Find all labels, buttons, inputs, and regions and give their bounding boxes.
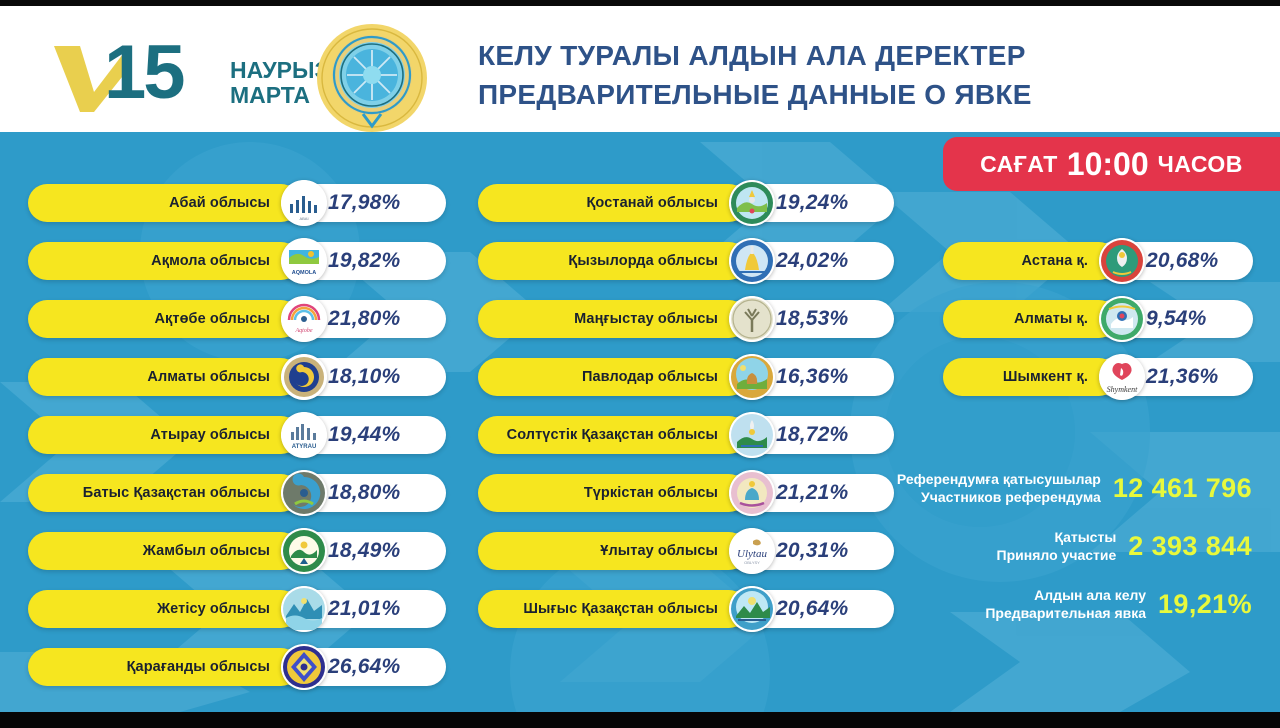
north-kazakhstan-region-emblem-icon — [729, 412, 775, 458]
atyrau-region-emblem-icon: ATYRAU — [281, 412, 327, 458]
table-row: Астана қ. 20,68% — [943, 242, 1253, 280]
page-title: КЕЛУ ТУРАЛЫ АЛДЫН АЛА ДЕРЕКТЕР ПРЕДВАРИТ… — [478, 36, 1238, 114]
summary-label-kz: Алдын ала келу — [985, 586, 1146, 604]
name-pill: Жамбыл облысы — [28, 532, 300, 570]
region-name: Павлодар облысы — [582, 369, 718, 385]
summary-label: Қатысты Приняло участие — [997, 528, 1117, 564]
table-row: Жетісу облысы 21,01% — [28, 590, 446, 628]
name-pill: Алматы облысы — [28, 358, 300, 396]
region-name: Абай облысы — [169, 195, 270, 211]
region-value: 9,54% — [1146, 300, 1207, 338]
table-row: Қызылорда облысы 24,02% — [478, 242, 894, 280]
table-row: Шымкент қ. Shymkent 21,36% — [943, 358, 1253, 396]
region-name: Маңғыстау облысы — [574, 311, 718, 327]
cec-kazakhstan-emblem-icon — [313, 22, 431, 134]
abai-region-emblem-icon: ABAI — [281, 180, 327, 226]
region-value: 18,80% — [328, 474, 400, 512]
zhambyl-region-emblem-icon — [281, 528, 327, 574]
name-pill: Алматы қ. — [943, 300, 1118, 338]
region-value: 20,31% — [776, 532, 848, 570]
table-row: Түркістан облысы 21,21% — [478, 474, 894, 512]
region-name: Солтүстік Қазақстан облысы — [507, 427, 718, 443]
karaganda-region-emblem-icon — [281, 644, 327, 690]
summary-block: Референдумға қатысушылар Участников рефе… — [880, 470, 1252, 644]
infographic-screen: 15 НАУРЫЗ МАРТА КЕЛУ ТУРАЛЫ А — [0, 0, 1280, 728]
region-value: 18,10% — [328, 358, 400, 396]
mangystau-region-emblem-icon — [729, 296, 775, 342]
region-value: 26,64% — [328, 648, 400, 686]
svg-text:Ulytau: Ulytau — [737, 548, 767, 560]
table-row: Шығыс Қазақстан облысы 20,64% — [478, 590, 894, 628]
svg-text:Aqtobe: Aqtobe — [295, 328, 313, 334]
aqmola-region-emblem-icon: AQMOLA — [281, 238, 327, 284]
summary-label-ru: Приняло участие — [997, 546, 1117, 564]
region-name: Қостанай облысы — [586, 195, 718, 211]
summary-label: Референдумға қатысушылар Участников рефе… — [897, 470, 1101, 506]
name-pill: Ұлытау облысы — [478, 532, 748, 570]
summary-value: 19,21% — [1158, 589, 1252, 620]
region-name: Алматы қ. — [1014, 311, 1088, 327]
almaty-city-emblem-icon — [1099, 296, 1145, 342]
name-pill: Қарағанды облысы — [28, 648, 300, 686]
region-name: Ұлытау облысы — [600, 543, 718, 559]
region-value: 21,01% — [328, 590, 400, 628]
region-value: 21,80% — [328, 300, 400, 338]
table-row: Солтүстік Қазақстан облысы 18,72% — [478, 416, 894, 454]
table-row: Атырау облысы ATYRAU 19,44% — [28, 416, 446, 454]
region-value: 16,36% — [776, 358, 848, 396]
region-name: Атырау облысы — [150, 427, 270, 443]
shymkent-city-emblem-icon: Shymkent — [1099, 354, 1145, 400]
summary-label-kz: Референдумға қатысушылар — [897, 470, 1101, 488]
summary-value: 2 393 844 — [1128, 531, 1252, 562]
summary-label-ru: Предварительная явка — [985, 604, 1146, 622]
summary-value: 12 461 796 — [1113, 473, 1252, 504]
table-row: Маңғыстау облысы 18,53% — [478, 300, 894, 338]
region-value: 21,36% — [1146, 358, 1218, 396]
summary-row-turnout: Алдын ала келу Предварительная явка 19,2… — [880, 586, 1252, 622]
pavlodar-region-emblem-icon — [729, 354, 775, 400]
region-value: 20,68% — [1146, 242, 1218, 280]
time-label-kz: САҒАТ — [980, 151, 1058, 178]
region-name: Астана қ. — [1021, 253, 1088, 269]
region-name: Шымкент қ. — [1003, 369, 1088, 385]
name-pill: Шымкент қ. — [943, 358, 1118, 396]
region-name: Батыс Қазақстан облысы — [83, 485, 270, 501]
name-pill: Астана қ. — [943, 242, 1118, 280]
kostanay-region-emblem-icon — [729, 180, 775, 226]
region-name: Жамбыл облысы — [143, 543, 270, 559]
election-date-logo: 15 НАУРЫЗ МАРТА — [48, 32, 288, 114]
svg-text:ATYRAU: ATYRAU — [292, 444, 317, 450]
table-row: Қостанай облысы 19,24% — [478, 184, 894, 222]
name-pill: Батыс Қазақстан облысы — [28, 474, 300, 512]
table-row: Абай облысы ABAI 17,98% — [28, 184, 446, 222]
time-label-ru: ЧАСОВ — [1158, 151, 1243, 178]
title-russian: ПРЕДВАРИТЕЛЬНЫЕ ДАННЫЕ О ЯВКЕ — [478, 75, 1238, 114]
header-band: 15 НАУРЫЗ МАРТА КЕЛУ ТУРАЛЫ А — [0, 6, 1280, 132]
region-value: 19,24% — [776, 184, 848, 222]
aqtobe-region-emblem-icon: Aqtobe — [281, 296, 327, 342]
table-row: Павлодар облысы 16,36% — [478, 358, 894, 396]
name-pill: Түркістан облысы — [478, 474, 748, 512]
astana-city-emblem-icon — [1099, 238, 1145, 284]
region-name: Түркістан облысы — [584, 485, 718, 501]
summary-label: Алдын ала келу Предварительная явка — [985, 586, 1146, 622]
east-kazakhstan-region-emblem-icon — [729, 586, 775, 632]
svg-text:Shymkent: Shymkent — [1107, 385, 1138, 394]
name-pill: Ақтөбе облысы — [28, 300, 300, 338]
region-value: 20,64% — [776, 590, 848, 628]
bottom-black-bar — [0, 712, 1280, 728]
table-row: Ақтөбе облысы Aqtobe 21,80% — [28, 300, 446, 338]
region-value: 18,49% — [328, 532, 400, 570]
summary-row-registered: Референдумға қатысушылар Участников рефе… — [880, 470, 1252, 506]
name-pill: Шығыс Қазақстан облысы — [478, 590, 748, 628]
name-pill: Павлодар облысы — [478, 358, 748, 396]
region-value: 19,44% — [328, 416, 400, 454]
region-name: Ақмола облысы — [151, 253, 270, 269]
region-value: 21,21% — [776, 474, 848, 512]
region-name: Қарағанды облысы — [127, 659, 270, 675]
region-value: 17,98% — [328, 184, 400, 222]
name-pill: Атырау облысы — [28, 416, 300, 454]
region-name: Алматы облысы — [147, 369, 270, 385]
summary-label-ru: Участников референдума — [897, 488, 1101, 506]
region-value: 24,02% — [776, 242, 848, 280]
almaty-region-emblem-icon — [281, 354, 327, 400]
region-name: Қызылорда облысы — [568, 253, 718, 269]
table-row: Батыс Қазақстан облысы 18,80% — [28, 474, 446, 512]
zhetisu-region-emblem-icon — [281, 586, 327, 632]
title-kazakh: КЕЛУ ТУРАЛЫ АЛДЫН АЛА ДЕРЕКТЕР — [478, 36, 1238, 75]
ulytau-region-emblem-icon: UlytauOBLYSY — [729, 528, 775, 574]
region-value: 19,82% — [328, 242, 400, 280]
turkistan-region-emblem-icon — [729, 470, 775, 516]
table-row: Ақмола облысы AQMOLA 19,82% — [28, 242, 446, 280]
svg-text:OBLYSY: OBLYSY — [744, 560, 760, 565]
name-pill: Солтүстік Қазақстан облысы — [478, 416, 748, 454]
table-row: Қарағанды облысы 26,64% — [28, 648, 446, 686]
name-pill: Қызылорда облысы — [478, 242, 748, 280]
content-area: САҒАТ 10:00 ЧАСОВ Абай облысы ABAI 17,98… — [0, 132, 1280, 712]
name-pill: Маңғыстау облысы — [478, 300, 748, 338]
svg-text:ABAI: ABAI — [299, 216, 308, 221]
region-value: 18,72% — [776, 416, 848, 454]
name-pill: Абай облысы — [28, 184, 300, 222]
logo-day-number: 15 — [104, 30, 183, 116]
table-row: Алматы облысы 18,10% — [28, 358, 446, 396]
name-pill: Жетісу облысы — [28, 590, 300, 628]
summary-row-participated: Қатысты Приняло участие 2 393 844 — [880, 528, 1252, 564]
region-name: Шығыс Қазақстан облысы — [523, 601, 718, 617]
name-pill: Ақмола облысы — [28, 242, 300, 280]
region-name: Ақтөбе облысы — [154, 311, 270, 327]
svg-text:AQMOLA: AQMOLA — [292, 270, 316, 276]
region-value: 18,53% — [776, 300, 848, 338]
table-row: Ұлытау облысы UlytauOBLYSY 20,31% — [478, 532, 894, 570]
summary-label-kz: Қатысты — [997, 528, 1117, 546]
west-kazakhstan-region-emblem-icon — [281, 470, 327, 516]
table-row: Жамбыл облысы 18,49% — [28, 532, 446, 570]
table-row: Алматы қ. 9,54% — [943, 300, 1253, 338]
time-badge: САҒАТ 10:00 ЧАСОВ — [943, 137, 1280, 191]
time-value: 10:00 — [1067, 146, 1149, 183]
region-name: Жетісу облысы — [157, 601, 270, 617]
kyzylorda-region-emblem-icon — [729, 238, 775, 284]
name-pill: Қостанай облысы — [478, 184, 748, 222]
